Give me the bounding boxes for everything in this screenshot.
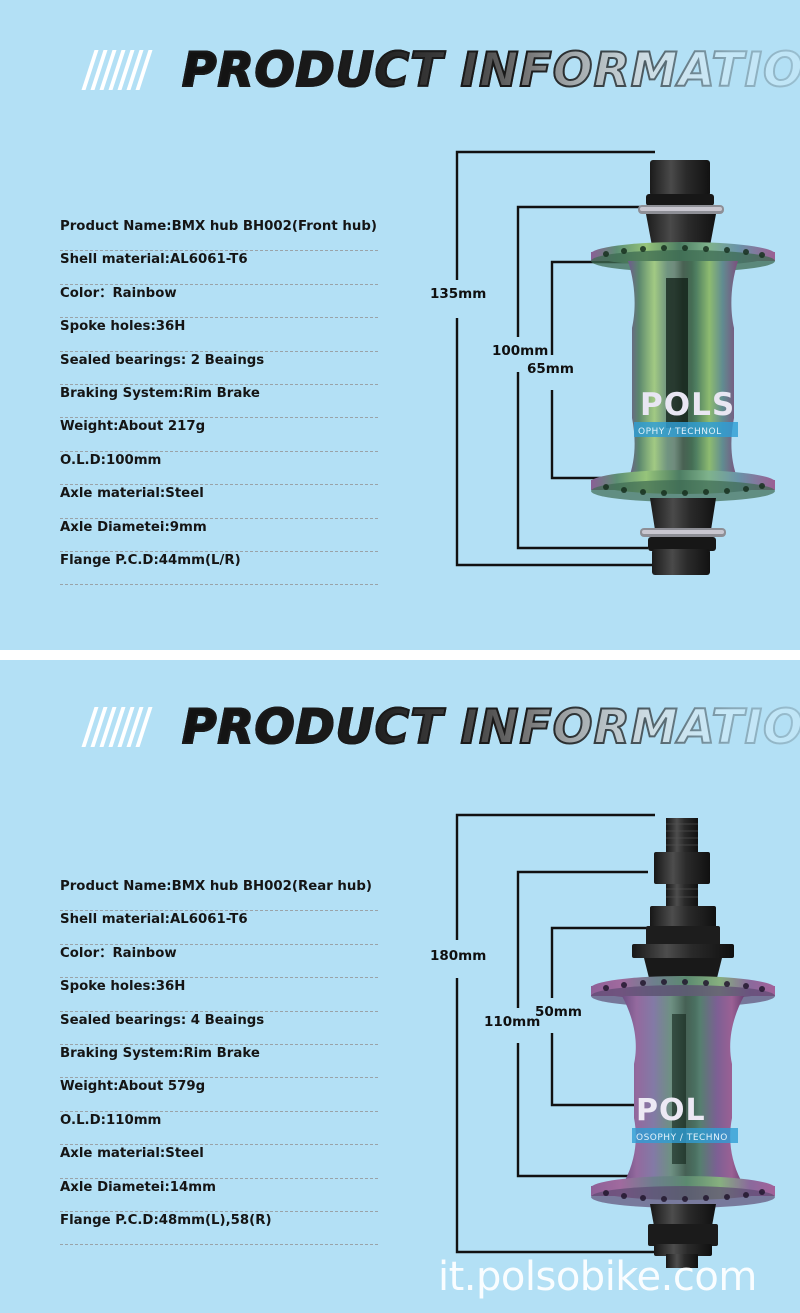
product-panel-front: PRODUCT INFORMATION Product Name:BMX hub… [0,0,800,650]
dimension-label: 100mm [492,343,548,359]
product-image-rear-hub: POL OSOPHY / TECHNO [588,818,778,1268]
product-image-front-hub: POLS OPHY / TECHNOL [588,160,778,575]
svg-text:OSOPHY / TECHNO: OSOPHY / TECHNO [636,1133,728,1143]
product-panel-rear: PRODUCT INFORMATION Product Name:BMX hub… [0,660,800,1313]
svg-text:OPHY / TECHNOL: OPHY / TECHNOL [638,427,722,437]
dimension-label: 50mm [535,1004,582,1020]
dimension-label: 135mm [430,286,486,302]
svg-text:POL: POL [636,1093,706,1128]
dimension-label: 65mm [527,361,574,377]
svg-text:POLS: POLS [640,387,735,423]
dimension-label: 110mm [484,1014,540,1030]
site-watermark: it.polsobike.com [438,1254,757,1300]
dimension-label: 180mm [430,948,486,964]
